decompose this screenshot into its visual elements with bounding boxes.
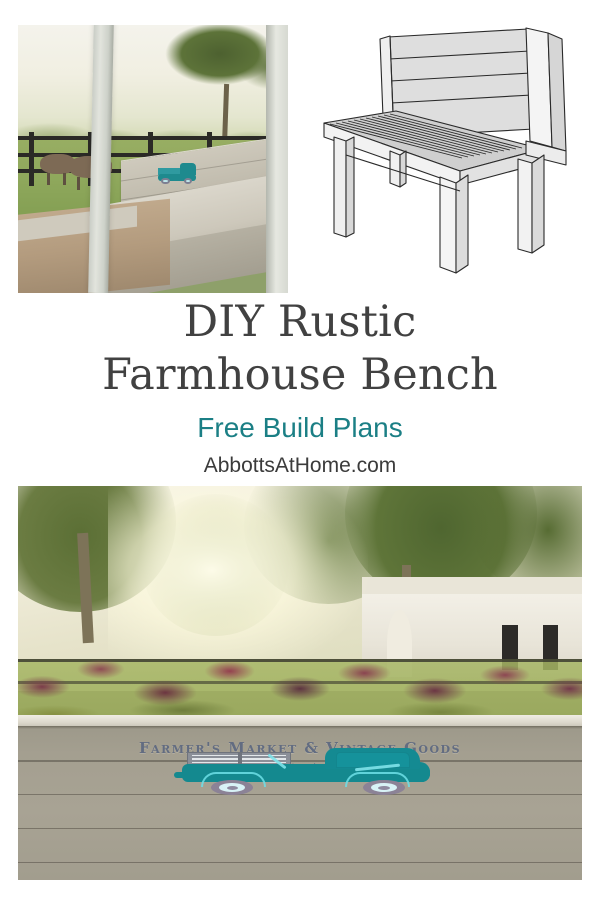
finished-bench-photo (18, 25, 288, 293)
top-image-row (18, 25, 582, 293)
pavilion-post (266, 25, 288, 293)
subtitle-free-build-plans: Free Build Plans (0, 410, 600, 446)
bench-build-plan-sketch (310, 25, 582, 293)
bench-closeup-photo: Farmer's Market & Vintage Goods Open Sat… (18, 486, 582, 880)
bench-top-rail (18, 715, 582, 728)
bench-backrest-planks: Farmer's Market & Vintage Goods Open Sat… (18, 726, 582, 880)
website-url: AbbottsAtHome.com (0, 452, 600, 480)
painted-truck-graphic (158, 163, 196, 184)
burgundy-shrub-hedge (18, 628, 582, 727)
page-title-line-2: Farmhouse Bench (0, 349, 600, 402)
pinterest-pin-graphic: DIY Rustic Farmhouse Bench Free Build Pl… (0, 0, 600, 900)
truck-wheel (363, 780, 405, 795)
painted-vintage-truck (182, 748, 430, 789)
pin-title-block: DIY Rustic Farmhouse Bench Free Build Pl… (0, 296, 600, 480)
page-title-line-1: DIY Rustic (0, 296, 600, 349)
truck-wheel (211, 780, 253, 795)
